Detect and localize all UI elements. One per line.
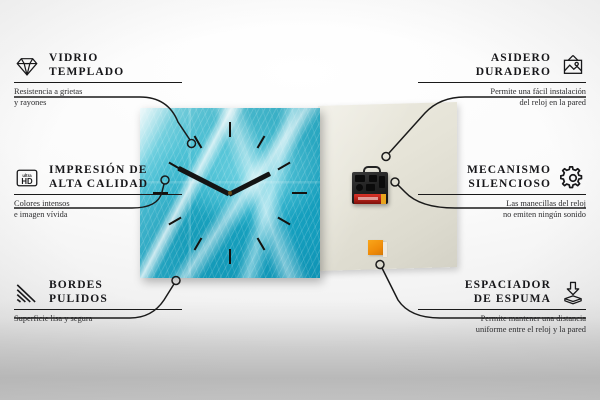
feature-title: ESPACIADOR DE ESPUMA <box>465 279 551 306</box>
infographic-canvas: VIDRIO TEMPLADO Resistencia a grietas y … <box>0 0 600 400</box>
feature-impresion-alta-calidad: ultra HD IMPRESIÓN DE ALTA CALIDAD Color… <box>14 164 182 220</box>
feature-espaciador-de-espuma: ESPACIADOR DE ESPUMA Permite mantener un… <box>418 279 586 335</box>
feature-header: MECANISMO SILENCIOSO <box>418 164 586 191</box>
feature-divider <box>14 194 182 195</box>
picture-hanger-icon <box>560 53 586 79</box>
gear-icon <box>560 165 586 191</box>
feature-divider <box>14 309 182 310</box>
feature-subtitle: Las manecillas del reloj no emiten ningú… <box>418 199 586 220</box>
connector-endpoint-asidero <box>382 153 390 161</box>
ultra-hd-large-text: HD <box>21 176 33 185</box>
connector-endpoint-espaciador <box>376 261 384 269</box>
feature-mecanismo-silencioso: MECANISMO SILENCIOSO Las manecillas del … <box>418 164 586 220</box>
feature-subtitle: Resistencia a grietas y rayones <box>14 87 182 108</box>
polished-edges-icon <box>14 280 40 306</box>
feature-title: ASIDERO DURADERO <box>476 52 551 79</box>
feature-title: VIDRIO TEMPLADO <box>49 52 124 79</box>
feature-divider <box>418 82 586 83</box>
feature-title: MECANISMO SILENCIOSO <box>467 164 551 191</box>
feature-header: ESPACIADOR DE ESPUMA <box>418 279 586 306</box>
feature-divider <box>418 309 586 310</box>
feature-subtitle: Superficie lisa y segura <box>14 314 182 324</box>
feature-header: ASIDERO DURADERO <box>418 52 586 79</box>
feature-header: VIDRIO TEMPLADO <box>14 52 182 79</box>
feature-asidero-duradero: ASIDERO DURADERO Permite una fácil insta… <box>418 52 586 108</box>
feature-subtitle: Permite mantener una distancia uniforme … <box>418 314 586 335</box>
feature-vidrio-templado: VIDRIO TEMPLADO Resistencia a grietas y … <box>14 52 182 108</box>
diamond-icon <box>14 53 40 79</box>
feature-title: BORDES PULIDOS <box>49 279 108 306</box>
feature-header: ultra HD IMPRESIÓN DE ALTA CALIDAD <box>14 164 182 191</box>
feature-title: IMPRESIÓN DE ALTA CALIDAD <box>49 164 148 191</box>
foam-spacer-icon <box>560 280 586 306</box>
connector-endpoint-vidrio <box>188 140 196 148</box>
feature-divider <box>418 194 586 195</box>
feature-subtitle: Colores intensos e imagen vívida <box>14 199 182 220</box>
ultra-hd-icon: ultra HD <box>14 165 40 191</box>
feature-subtitle: Permite una fácil instalación del reloj … <box>418 87 586 108</box>
feature-header: BORDES PULIDOS <box>14 279 182 306</box>
feature-bordes-pulidos: BORDES PULIDOS Superficie lisa y segura <box>14 279 182 325</box>
feature-divider <box>14 82 182 83</box>
connector-endpoint-mecanismo <box>391 178 399 186</box>
